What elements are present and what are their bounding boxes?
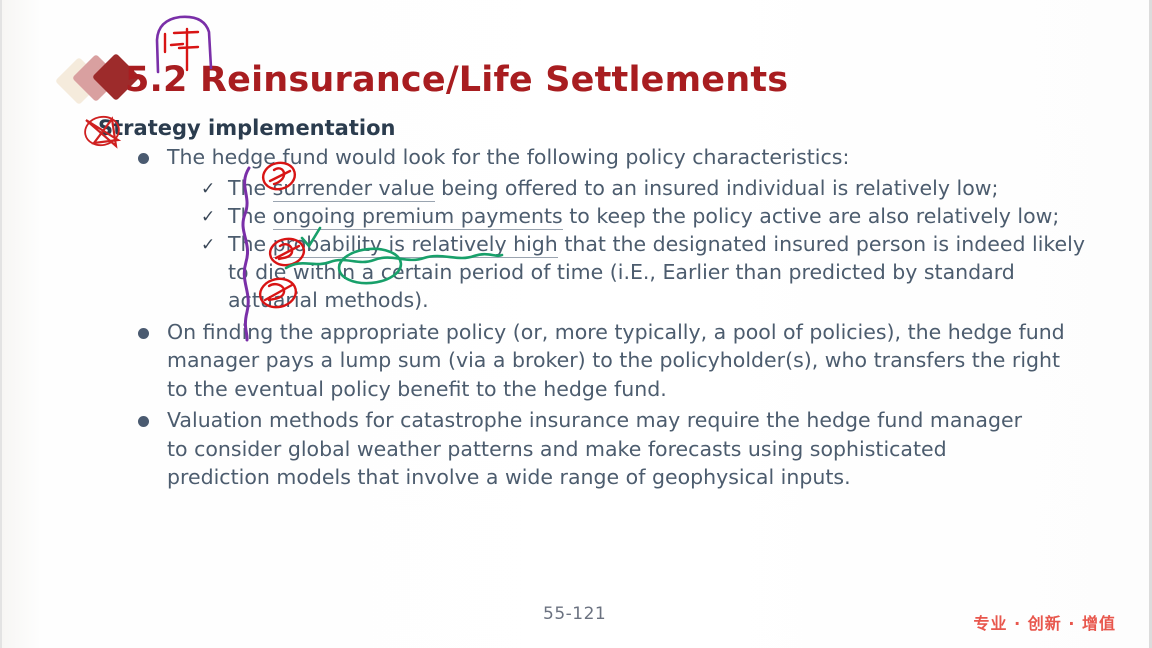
page-number: 55-121: [543, 604, 606, 624]
sub-bullet-underlined: probability is relatively high: [273, 232, 558, 258]
brand-footer-text: 专业 · 创新 · 增值: [974, 610, 1116, 634]
slide-title: 5.2 Reinsurance/Life Settlements: [125, 60, 788, 100]
bullet-item: On finding the appropriate policy (or, m…: [138, 318, 1098, 404]
sub-bullet-text: The probability is relatively high that …: [228, 230, 1088, 314]
bullet-text: On finding the appropriate policy (or, m…: [167, 318, 1072, 404]
sub-bullet-tail: being offered to an insured individual i…: [435, 176, 999, 200]
bullet-text: Valuation methods for catastrophe insura…: [167, 406, 1047, 492]
presentation-slide: 5.2 Reinsurance/Life Settlements Strateg…: [0, 0, 1152, 648]
bullet-item: Valuation methods for catastrophe insura…: [138, 406, 1098, 492]
sub-bullet-item: ✓ The probability is relatively high tha…: [138, 230, 1098, 314]
bullet-text: The hedge fund would look for the follow…: [167, 143, 849, 172]
sub-bullet-text: The ongoing premium payments to keep the…: [228, 202, 1059, 230]
sub-bullet-lead: The: [228, 232, 273, 256]
sub-bullet-item: ✓ The ongoing premium payments to keep t…: [138, 202, 1098, 230]
sub-bullet-underlined: surrender value: [273, 176, 435, 202]
sub-bullet-lead: The: [228, 204, 273, 228]
check-mark-icon: ✓: [201, 180, 217, 197]
check-mark-icon: ✓: [201, 236, 217, 253]
sub-bullet-text: The surrender value being offered to an …: [228, 174, 998, 202]
sub-bullet-group: ✓ The surrender value being offered to a…: [138, 174, 1098, 314]
bullet-dot-icon: [138, 328, 149, 339]
sub-bullet-underlined: ongoing premium payments: [273, 204, 563, 230]
bullet-item: The hedge fund would look for the follow…: [138, 143, 1098, 172]
section-subheading: Strategy implementation: [98, 116, 395, 140]
bullet-dot-icon: [138, 416, 149, 427]
sub-bullet-lead: The: [228, 176, 273, 200]
check-mark-icon: ✓: [201, 208, 217, 225]
slide-body: The hedge fund would look for the follow…: [138, 143, 1098, 494]
bullet-dot-icon: [138, 153, 149, 164]
sub-bullet-tail: to keep the policy active are also relat…: [563, 204, 1060, 228]
sub-bullet-item: ✓ The surrender value being offered to a…: [138, 174, 1098, 202]
